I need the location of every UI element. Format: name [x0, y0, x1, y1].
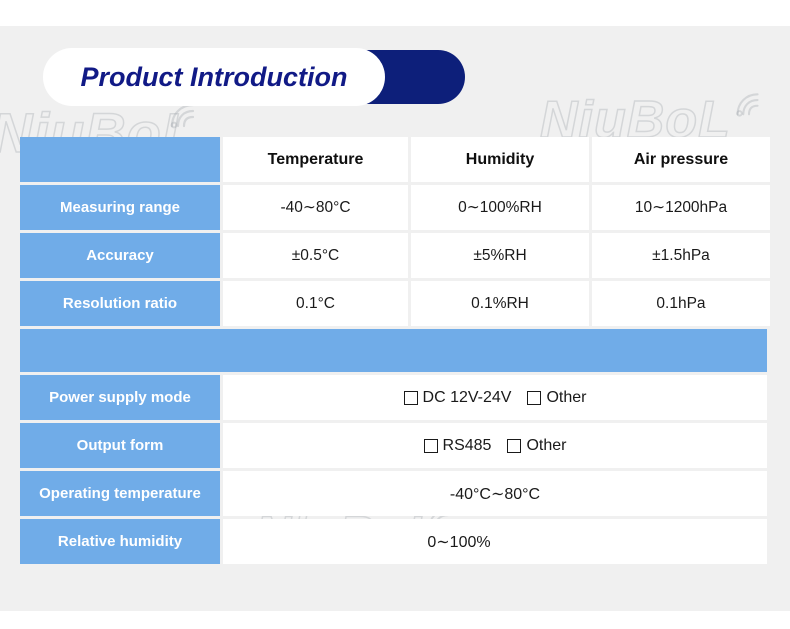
cell-resolution-humidity: 0.1%RH — [411, 281, 589, 326]
cell-relative-humidity-value: 0∼100% — [223, 519, 767, 564]
product-introduction-page: NiuBoL NiuBoL NiuBoL — [0, 0, 790, 629]
cell-output-form-options: RS485 Other — [223, 423, 767, 468]
specification-table: Temperature Humidity Air pressure Measur… — [20, 137, 767, 564]
cell-resolution-air-pressure: 0.1hPa — [592, 281, 770, 326]
row-label-relative-humidity: Relative humidity — [20, 519, 220, 564]
checkbox-icon[interactable] — [424, 439, 438, 453]
page-title: Product Introduction — [43, 48, 385, 106]
option-label: RS485 — [443, 437, 492, 455]
cell-resolution-temperature: 0.1°C — [223, 281, 408, 326]
table-row: Measuring range -40∼80°C 0∼100%RH 10∼120… — [20, 185, 767, 230]
option-dc-12v-24v[interactable]: DC 12V-24V — [404, 389, 512, 407]
table-row: Power supply mode DC 12V-24V Other — [20, 375, 767, 420]
cell-measuring-range-humidity: 0∼100%RH — [411, 185, 589, 230]
cell-accuracy-humidity: ±5%RH — [411, 233, 589, 278]
cell-accuracy-air-pressure: ±1.5hPa — [592, 233, 770, 278]
table-row: Operating temperature -40°C∼80°C — [20, 471, 767, 516]
checkbox-icon[interactable] — [507, 439, 521, 453]
table-row: Resolution ratio 0.1°C 0.1%RH 0.1hPa — [20, 281, 767, 326]
row-label-measuring-range: Measuring range — [20, 185, 220, 230]
column-header-air-pressure: Air pressure — [592, 137, 770, 182]
table-header-row: Temperature Humidity Air pressure — [20, 137, 767, 182]
option-label: Other — [526, 437, 566, 455]
option-label: DC 12V-24V — [423, 389, 512, 407]
row-label-output-form: Output form — [20, 423, 220, 468]
table-row: Output form RS485 Other — [20, 423, 767, 468]
row-label-accuracy: Accuracy — [20, 233, 220, 278]
table-row: Accuracy ±0.5°C ±5%RH ±1.5hPa — [20, 233, 767, 278]
section-divider-bar — [20, 329, 767, 372]
table-row: Relative humidity 0∼100% — [20, 519, 767, 564]
table-corner-cell — [20, 137, 220, 182]
cell-accuracy-temperature: ±0.5°C — [223, 233, 408, 278]
row-label-resolution-ratio: Resolution ratio — [20, 281, 220, 326]
option-label: Other — [546, 389, 586, 407]
option-other-power[interactable]: Other — [527, 389, 586, 407]
cell-power-supply-options: DC 12V-24V Other — [223, 375, 767, 420]
option-rs485[interactable]: RS485 — [424, 437, 492, 455]
column-header-humidity: Humidity — [411, 137, 589, 182]
cell-operating-temperature-value: -40°C∼80°C — [223, 471, 767, 516]
row-label-power-supply-mode: Power supply mode — [20, 375, 220, 420]
row-label-operating-temperature: Operating temperature — [20, 471, 220, 516]
checkbox-icon[interactable] — [527, 391, 541, 405]
checkbox-icon[interactable] — [404, 391, 418, 405]
column-header-temperature: Temperature — [223, 137, 408, 182]
cell-measuring-range-air-pressure: 10∼1200hPa — [592, 185, 770, 230]
cell-measuring-range-temperature: -40∼80°C — [223, 185, 408, 230]
option-other-output[interactable]: Other — [507, 437, 566, 455]
